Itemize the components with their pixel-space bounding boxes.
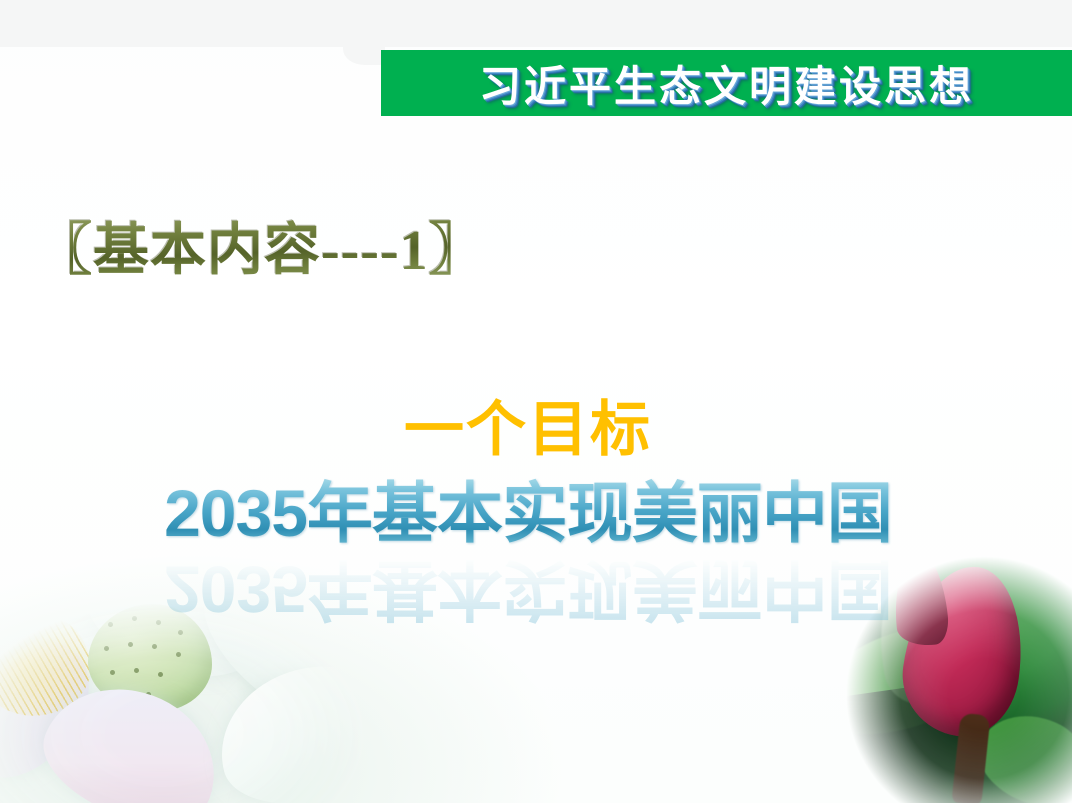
lotus-seed-dot	[108, 622, 113, 627]
lotus-seed-dot	[178, 630, 183, 635]
banner-title-text: 习近平生态文明建设思想	[479, 53, 974, 114]
lotus-seed-dot	[152, 644, 157, 649]
lotus-seed-dot	[104, 646, 109, 651]
lotus-seed-dot	[156, 620, 161, 625]
lotus-seed-dot	[134, 668, 139, 673]
top-band-decoration	[0, 0, 1072, 47]
lotus-seed-dot	[176, 652, 181, 657]
headline-vision-text: 2035年基本实现美丽中国	[0, 477, 1056, 550]
presentation-slide: 习近平生态文明建设思想 〖基本内容----1〗 一个目标 2035年基本实现美丽…	[0, 0, 1072, 803]
headline-block: 一个目标 2035年基本实现美丽中国 2035年基本实现美丽中国	[0, 396, 1056, 597]
slide-title-banner: 习近平生态文明建设思想	[381, 50, 1072, 116]
lotus-seed-dot	[128, 642, 133, 647]
headline-goal-text: 一个目标	[0, 396, 1056, 463]
section-heading: 〖基本内容----1〗	[36, 218, 486, 284]
headline-vision-wrapper: 2035年基本实现美丽中国 2035年基本实现美丽中国	[0, 477, 1056, 597]
lotus-seed-dot	[158, 672, 163, 677]
lotus-seed-dot	[132, 616, 137, 621]
lotus-seed-dot	[110, 670, 115, 675]
